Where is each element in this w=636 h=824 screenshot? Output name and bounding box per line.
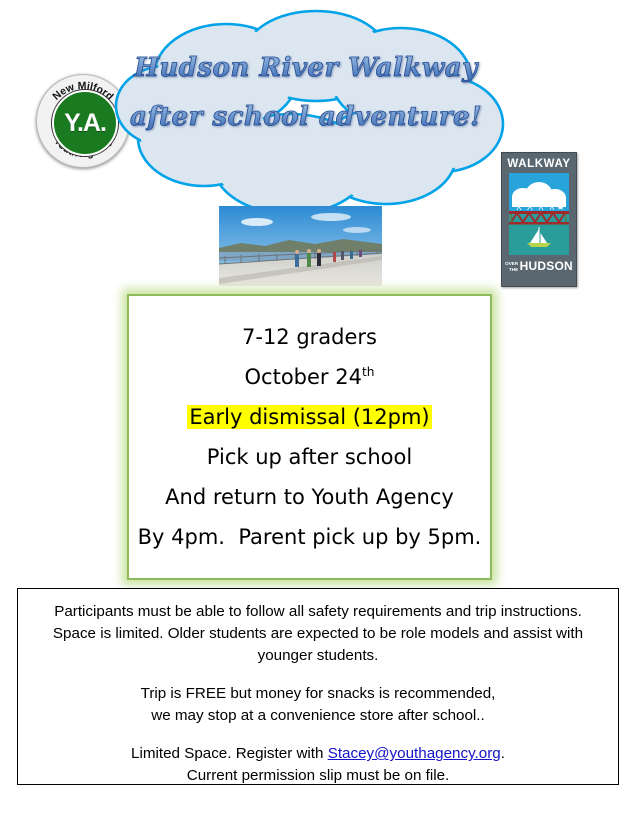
registration-suffix: . (501, 745, 505, 762)
registration-prefix: Limited Space. Register with (131, 745, 328, 762)
walkway-logo-top-word: WALKWAY (507, 158, 570, 170)
early-dismissal-line: Early dismissal (12pm) (187, 405, 431, 429)
date-line: October 24th (245, 365, 375, 389)
walkway-logo-hudson: HUDSON (520, 259, 573, 273)
cost-line-2: we may stop at a convenience store after… (151, 707, 484, 724)
walkway-logo-over-the: OVER THE (505, 261, 518, 272)
requirements-box: Participants must be able to follow all … (17, 588, 619, 785)
parent-pickup-line: By 4pm. Parent pick up by 5pm. (138, 525, 482, 549)
walkway-logo-the: THE (505, 267, 518, 272)
permission-slip-line: Current permission slip must be on file. (187, 767, 450, 784)
walkway-bridge-photo (219, 206, 382, 286)
return-line: And return to Youth Agency (165, 485, 454, 509)
safety-paragraph: Participants must be able to follow all … (34, 601, 602, 667)
date-ordinal-suffix: th (362, 365, 375, 379)
walkway-logo-illustration (509, 173, 569, 255)
registration-paragraph: Limited Space. Register with Stacey@yout… (34, 743, 602, 787)
cost-paragraph: Trip is FREE but money for snacks is rec… (34, 683, 602, 727)
cost-line-1: Trip is FREE but money for snacks is rec… (141, 685, 496, 702)
pickup-line: Pick up after school (207, 445, 412, 469)
grade-range-line: 7-12 graders (242, 325, 377, 349)
walkway-logo-over: OVER (505, 261, 518, 266)
cloud-callout-shape (96, 6, 516, 236)
register-email-link[interactable]: Stacey@youthagency.org (328, 745, 501, 762)
date-text: October 24 (245, 365, 362, 389)
walkway-logo-bottom-text: OVER THE HUDSON (505, 259, 573, 273)
flyer-page: New Milford Youth Agency Y.A. (0, 0, 636, 824)
trip-details-box: 7-12 graders October 24th Early dismissa… (127, 294, 492, 580)
walkway-over-the-hudson-logo-icon: WALKWAY (501, 152, 577, 287)
